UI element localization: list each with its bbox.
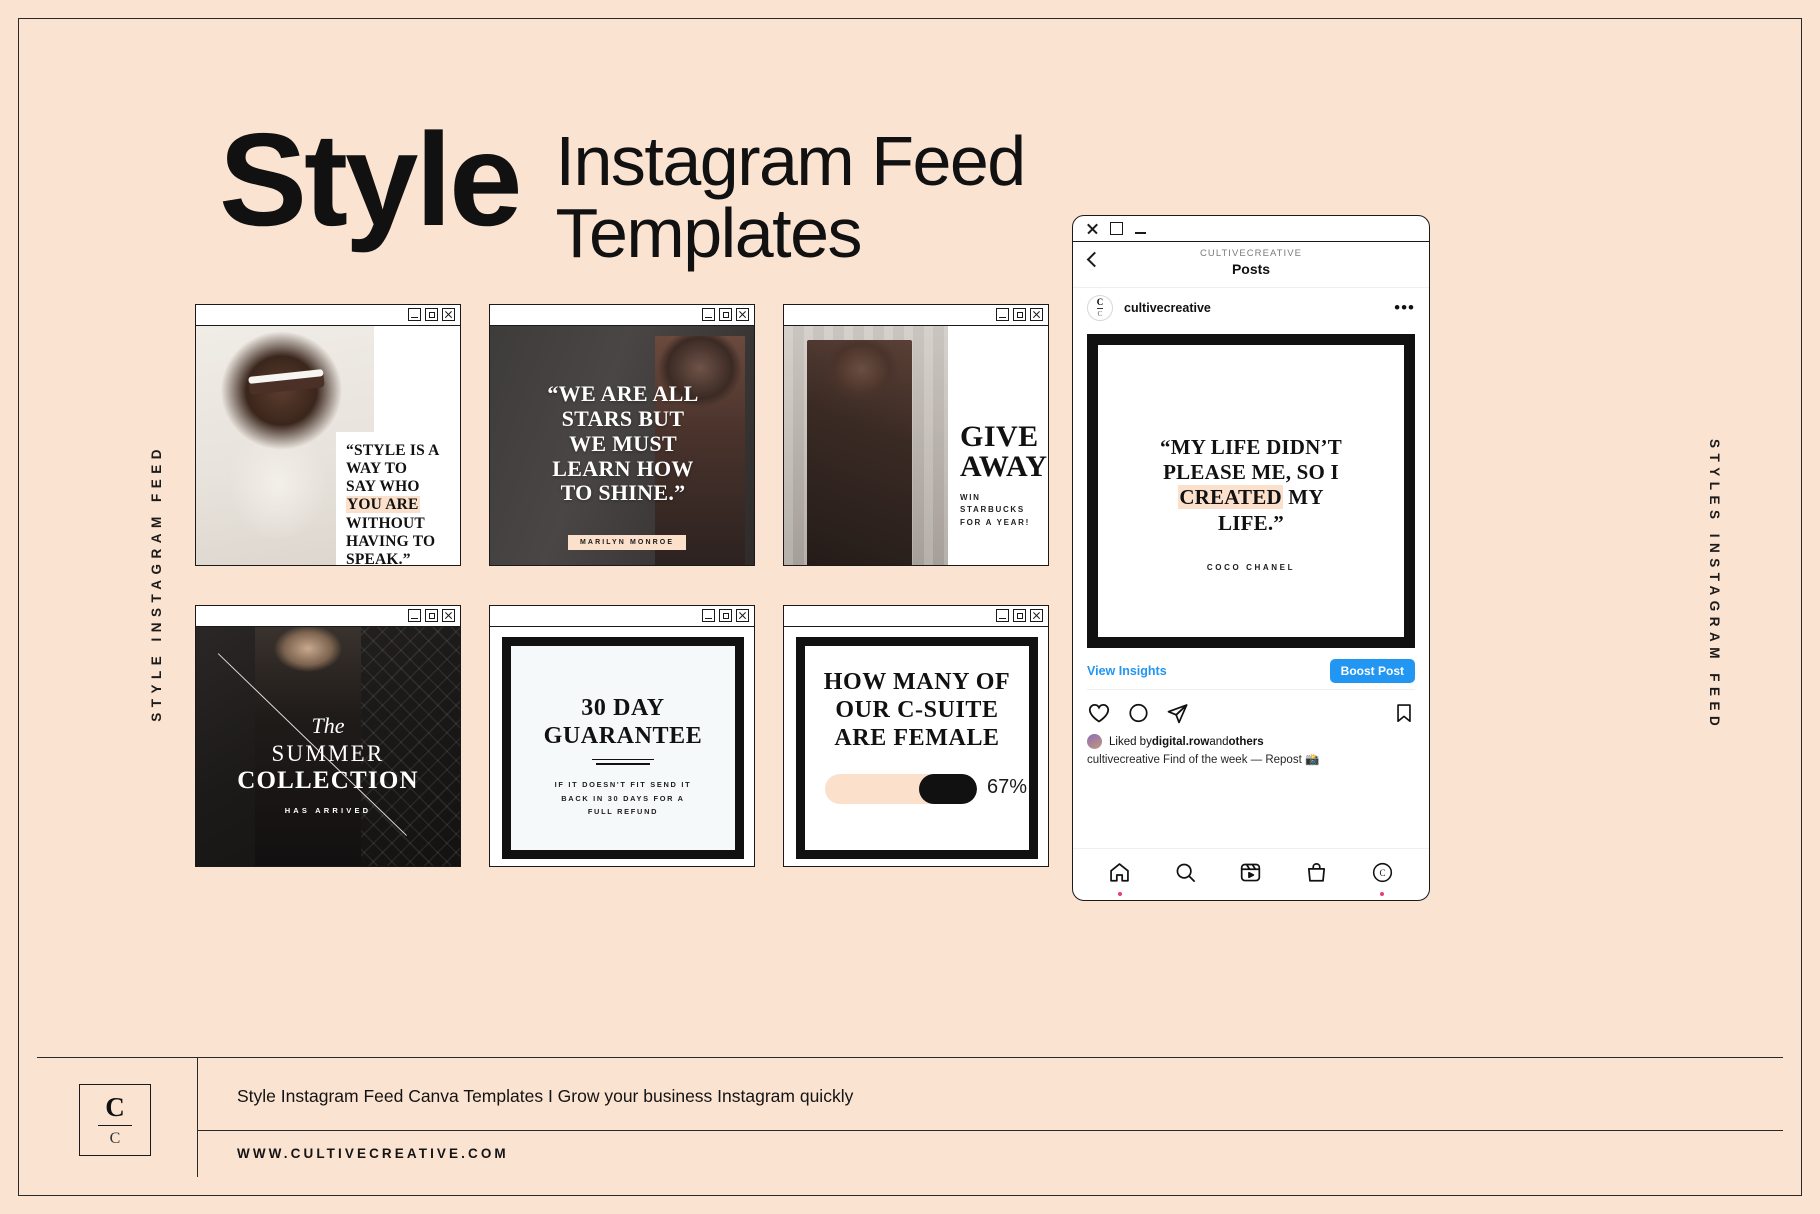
giveaway-text-block: GIVE AWAY WIN STARBUCKS FOR A YEAR! — [960, 422, 1048, 529]
giveaway-title-line-1: GIVE — [960, 422, 1048, 452]
heart-icon[interactable] — [1087, 701, 1111, 725]
side-label-right: STYLES INSTAGRAM FEED — [1707, 439, 1722, 731]
close-icon[interactable] — [442, 308, 455, 321]
search-icon[interactable] — [1174, 861, 1197, 889]
avatar-top-letter: C — [1097, 298, 1104, 309]
maximize-icon[interactable] — [719, 609, 732, 622]
poster-canvas: Style Instagram Feed Templates STYLE INS… — [18, 18, 1802, 1196]
template-card-csuite[interactable]: HOW MANY OF OUR C-SUITE ARE FEMALE 67% — [783, 605, 1049, 867]
headline-line-2: Templates — [556, 197, 1025, 269]
card-body: GIVE AWAY WIN STARBUCKS FOR A YEAR! — [784, 326, 1048, 565]
card-body: The SUMMER COLLECTION HAS ARRIVED — [196, 627, 460, 866]
progress-bar-fill — [919, 774, 977, 804]
liked-suffix: and — [1209, 736, 1228, 748]
header-title: Posts — [1073, 261, 1429, 277]
comment-icon[interactable] — [1127, 702, 1150, 725]
card-body: 30 DAY GUARANTEE IF IT DOESN'T FIT SEND … — [490, 627, 754, 866]
liked-others[interactable]: others — [1229, 736, 1264, 748]
post-quote: “MY LIFE DIDN’T PLEASE ME, SO I CREATED … — [1108, 435, 1394, 536]
reels-icon[interactable] — [1239, 861, 1262, 889]
minimize-icon[interactable] — [408, 308, 421, 321]
logo-letter-top: C — [105, 1094, 125, 1121]
summer-the-label: The — [196, 715, 460, 737]
post-quote-attribution: COCO CHANEL — [1098, 563, 1404, 572]
poster-page: Style Instagram Feed Templates STYLE INS… — [0, 0, 1820, 1214]
phone-window-titlebar — [1073, 216, 1429, 242]
guarantee-sub-line-2: BACK IN 30 DAYS FOR A — [511, 792, 735, 806]
svg-text:C: C — [1379, 867, 1385, 877]
card-inner-frame: HOW MANY OF OUR C-SUITE ARE FEMALE 67% — [796, 637, 1038, 859]
bookmark-icon[interactable] — [1393, 702, 1415, 724]
minimize-icon[interactable] — [702, 308, 715, 321]
template-card-giveaway[interactable]: GIVE AWAY WIN STARBUCKS FOR A YEAR! — [783, 304, 1049, 566]
template-card-quote-rachel-zoe[interactable]: “STYLE IS A WAY TO SAY WHO YOU ARE WITHO… — [195, 304, 461, 566]
quote-line-1: “STYLE IS A — [346, 442, 454, 460]
guarantee-sub-line-1: IF IT DOESN'T FIT SEND IT — [511, 778, 735, 792]
post-user-row[interactable]: C C cultivecreative ••• — [1073, 288, 1429, 328]
liked-username[interactable]: digital.row — [1152, 736, 1210, 748]
post-quote-line-2: PLEASE ME, SO I — [1108, 460, 1394, 485]
quote-line-6: SPEAK.” — [346, 551, 454, 565]
post-quote-line-3-tail: MY — [1283, 485, 1324, 509]
footer-divider — [197, 1058, 198, 1177]
view-insights-link[interactable]: View Insights — [1087, 664, 1167, 678]
more-options-icon[interactable]: ••• — [1394, 304, 1415, 313]
guarantee-subtext: IF IT DOESN'T FIT SEND IT BACK IN 30 DAY… — [511, 778, 735, 819]
maximize-icon[interactable] — [1013, 308, 1026, 321]
shop-icon[interactable] — [1305, 861, 1328, 889]
guarantee-title: 30 DAY GUARANTEE — [511, 694, 735, 750]
csuite-title-line-1: HOW MANY OF — [805, 668, 1029, 696]
summer-line-2: COLLECTION — [196, 767, 460, 795]
logo-letter-bottom: C — [98, 1125, 132, 1147]
window-titlebar — [196, 606, 460, 627]
minimize-icon[interactable] — [408, 609, 421, 622]
window-buttons[interactable] — [702, 609, 749, 622]
instagram-bottom-nav[interactable]: C — [1073, 848, 1429, 900]
footer: C C Style Instagram Feed Canva Templates… — [37, 1057, 1783, 1177]
profile-icon[interactable]: C — [1371, 861, 1394, 889]
card-inner-frame: 30 DAY GUARANTEE IF IT DOESN'T FIT SEND … — [502, 637, 744, 859]
close-icon[interactable] — [736, 609, 749, 622]
template-card-guarantee[interactable]: 30 DAY GUARANTEE IF IT DOESN'T FIT SEND … — [489, 605, 755, 867]
window-titlebar — [490, 606, 754, 627]
csuite-title-line-3: ARE FEMALE — [805, 724, 1029, 752]
footer-rule — [197, 1130, 1783, 1131]
quote-attribution: MARILYN MONROE — [568, 535, 686, 550]
card-body: “STYLE IS A WAY TO SAY WHO YOU ARE WITHO… — [196, 326, 460, 565]
maximize-icon[interactable] — [1110, 222, 1123, 235]
guarantee-title-line-2: GUARANTEE — [511, 722, 735, 750]
quote-highlight: YOU ARE — [346, 496, 420, 513]
window-titlebar — [784, 305, 1048, 326]
quote-line-3: SAY WHO — [346, 478, 454, 496]
minimize-icon[interactable] — [1134, 222, 1147, 235]
footer-url[interactable]: WWW.CULTIVECREATIVE.COM — [237, 1146, 509, 1161]
summer-text-block: The SUMMER COLLECTION HAS ARRIVED — [196, 715, 460, 815]
share-icon[interactable] — [1166, 702, 1189, 725]
close-icon[interactable] — [1030, 609, 1043, 622]
guarantee-sub-line-3: FULL REFUND — [511, 805, 735, 819]
minimize-icon[interactable] — [996, 609, 1009, 622]
card-photo — [784, 326, 948, 565]
avatar-bottom-letter: C — [1097, 309, 1102, 318]
home-icon[interactable] — [1108, 861, 1131, 889]
instagram-header: CULTIVECREATIVE Posts — [1073, 242, 1429, 288]
window-buttons[interactable] — [702, 308, 749, 321]
minimize-icon[interactable] — [996, 308, 1009, 321]
csuite-title-line-2: OUR C-SUITE — [805, 696, 1029, 724]
giveaway-sub-line-2: STARBUCKS — [960, 504, 1048, 516]
quote-line-4: WITHOUT — [346, 515, 454, 533]
quote-line-2: WAY TO — [346, 460, 454, 478]
progress-percent-label: 67% — [987, 776, 1027, 799]
giveaway-title-line-2: AWAY — [960, 452, 1048, 482]
header-handle: CULTIVECREATIVE — [1073, 248, 1429, 259]
giveaway-sub-line-1: WIN — [960, 492, 1048, 504]
liked-by-avatar — [1087, 734, 1102, 749]
close-icon[interactable] — [1030, 308, 1043, 321]
window-titlebar — [196, 305, 460, 326]
giveaway-sub-line-3: FOR A YEAR! — [960, 517, 1048, 529]
maximize-icon[interactable] — [425, 308, 438, 321]
quote-block: “STYLE IS A WAY TO SAY WHO YOU ARE WITHO… — [336, 432, 460, 565]
maximize-icon[interactable] — [425, 609, 438, 622]
summer-sub: HAS ARRIVED — [196, 806, 460, 815]
progress-bar-track — [825, 774, 977, 804]
liked-prefix: Liked by — [1109, 736, 1152, 748]
window-titlebar — [490, 305, 754, 326]
headline-line-1: Instagram Feed — [556, 125, 1025, 197]
maximize-icon[interactable] — [719, 308, 732, 321]
minimize-icon[interactable] — [702, 609, 715, 622]
guarantee-title-line-1: 30 DAY — [511, 694, 735, 722]
quote-text: “WE ARE ALL STARS BUT WE MUST LEARN HOW … — [502, 382, 744, 506]
liked-by-row: Liked by digital.row and others — [1087, 734, 1415, 749]
template-card-summer-collection[interactable]: The SUMMER COLLECTION HAS ARRIVED — [195, 605, 461, 867]
headline-word-style: Style — [219, 115, 520, 244]
card-body: HOW MANY OF OUR C-SUITE ARE FEMALE 67% — [784, 627, 1048, 866]
post-username[interactable]: cultivecreative — [1124, 301, 1211, 315]
close-icon[interactable] — [1086, 222, 1099, 235]
post-quote-line-1: “MY LIFE DIDN’T — [1108, 435, 1394, 460]
csuite-title: HOW MANY OF OUR C-SUITE ARE FEMALE — [805, 668, 1029, 752]
instagram-phone-mockup[interactable]: CULTIVECREATIVE Posts C C cultivecreativ… — [1072, 215, 1430, 901]
maximize-icon[interactable] — [1013, 609, 1026, 622]
window-buttons[interactable] — [408, 308, 455, 321]
post-quote-highlight: CREATED — [1178, 485, 1283, 509]
close-icon[interactable] — [442, 609, 455, 622]
boost-post-button[interactable]: Boost Post — [1330, 659, 1415, 683]
page-title: Style Instagram Feed Templates — [219, 115, 1025, 269]
footer-tagline: Style Instagram Feed Canva Templates I G… — [237, 1086, 853, 1107]
post-quote-line-4: LIFE.” — [1108, 511, 1394, 536]
sunglasses-detail — [249, 370, 325, 394]
window-buttons[interactable] — [996, 308, 1043, 321]
side-label-left: STYLE INSTAGRAM FEED — [149, 444, 164, 722]
close-icon[interactable] — [736, 308, 749, 321]
insights-row: View Insights Boost Post — [1087, 660, 1415, 690]
post-caption: cultivecreative Find of the week — Repos… — [1087, 752, 1415, 766]
post-actions-row — [1087, 700, 1415, 726]
quote-line-5: HAVING TO — [346, 533, 454, 551]
template-card-quote-marilyn-monroe[interactable]: “WE ARE ALL STARS BUT WE MUST LEARN HOW … — [489, 304, 755, 566]
summer-line-1: SUMMER — [196, 741, 460, 767]
decorative-rule — [592, 756, 654, 768]
post-image[interactable]: “MY LIFE DIDN’T PLEASE ME, SO I CREATED … — [1087, 334, 1415, 648]
window-buttons[interactable] — [408, 609, 455, 622]
window-buttons[interactable] — [996, 609, 1043, 622]
card-body: “WE ARE ALL STARS BUT WE MUST LEARN HOW … — [490, 326, 754, 565]
avatar[interactable]: C C — [1087, 295, 1113, 321]
brand-logo: C C — [79, 1084, 151, 1156]
window-titlebar — [784, 606, 1048, 627]
